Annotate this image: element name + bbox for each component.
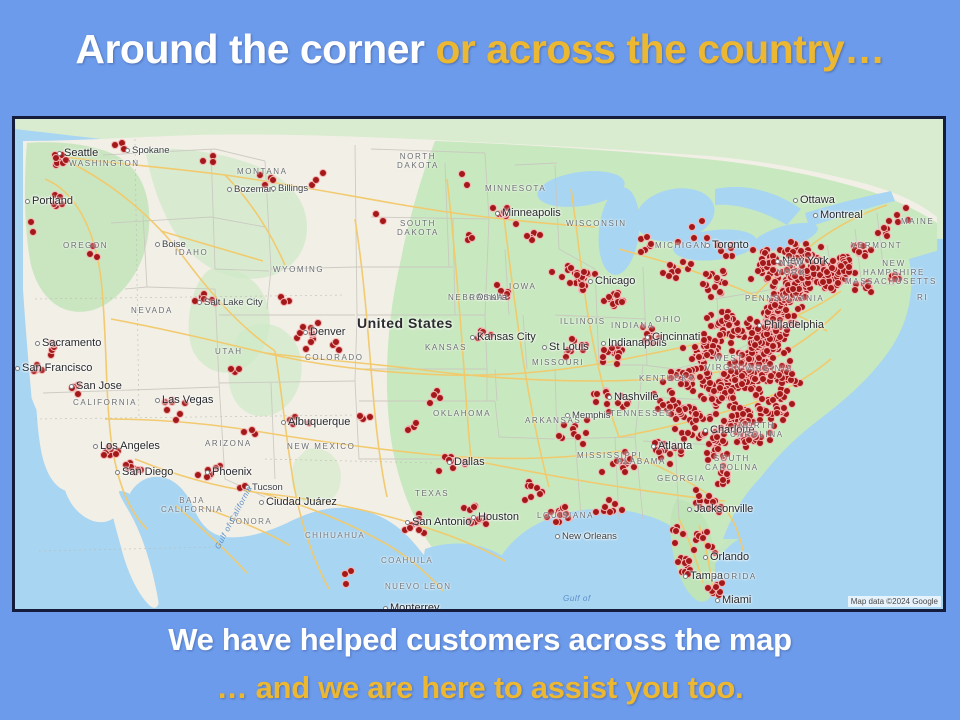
footer-block: We have helped customers across the map … [0, 612, 960, 706]
slide-root: Around the corner or across the country… [0, 0, 960, 720]
footer-line-2: … and we are here to assist you too. [0, 670, 960, 706]
map-frame[interactable]: SeattleSpokanePortlandBoiseBozemanBillin… [12, 116, 946, 612]
headline-part-gold: or across the country… [435, 26, 884, 72]
map-attribution: Map data ©2024 Google [848, 596, 941, 607]
footer-line-1: We have helped customers across the map [0, 622, 960, 658]
page-title: Around the corner or across the country… [0, 26, 960, 73]
map-canvas[interactable]: SeattleSpokanePortlandBoiseBozemanBillin… [15, 119, 943, 609]
headline-part-white: Around the corner [75, 26, 435, 72]
map-basemap [15, 119, 943, 609]
